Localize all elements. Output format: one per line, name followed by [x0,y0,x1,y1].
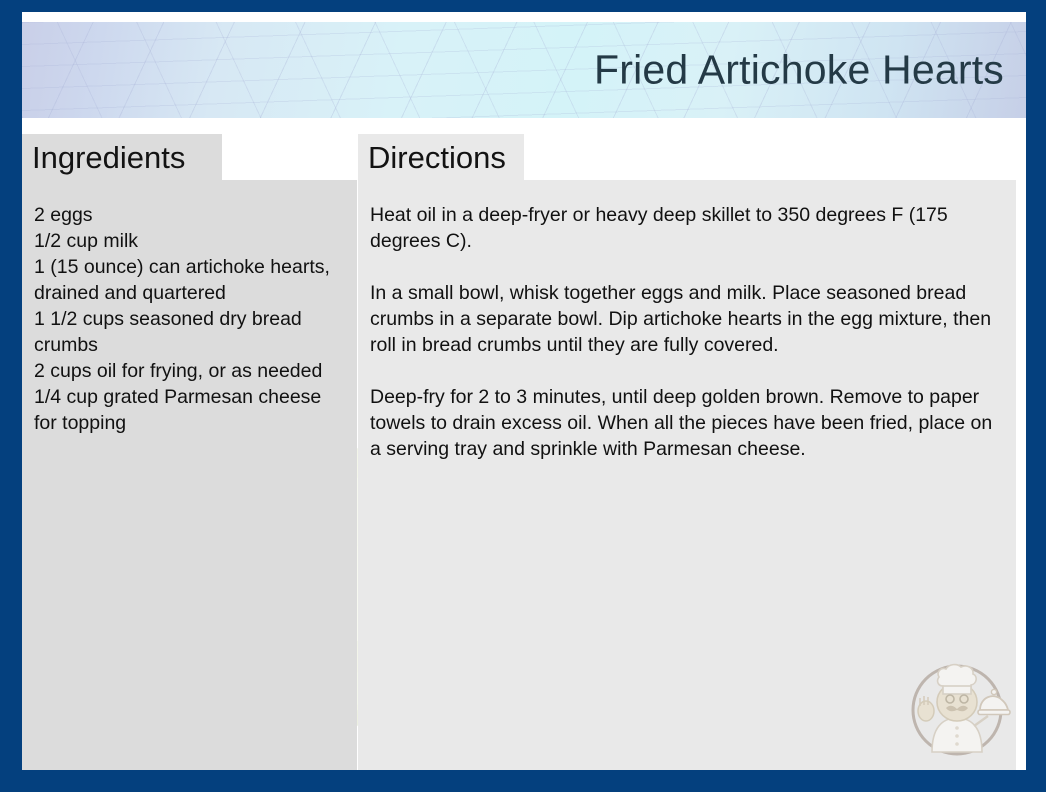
directions-heading: Directions [358,142,506,173]
direction-step: Deep-fry for 2 to 3 minutes, until deep … [370,384,1002,462]
page-surface: Fried Artichoke Hearts [22,12,1026,770]
section-tab-ingredients: Ingredients [22,134,222,180]
direction-step: Heat oil in a deep-fryer or heavy deep s… [370,202,1002,254]
page-title: Fried Artichoke Hearts [594,47,1004,94]
section-tab-directions: Directions [358,134,524,180]
directions-panel: Heat oil in a deep-fryer or heavy deep s… [358,180,1016,770]
header-banner: Fried Artichoke Hearts [22,22,1026,118]
recipe-card: Fried Artichoke Hearts [0,0,1046,792]
direction-step: In a small bowl, whisk together eggs and… [370,280,1002,358]
ingredients-panel: 2 eggs 1/2 cup milk 1 (15 ounce) can art… [22,180,357,770]
ingredients-list: 2 eggs 1/2 cup milk 1 (15 ounce) can art… [34,202,343,436]
ingredients-heading: Ingredients [22,142,185,173]
